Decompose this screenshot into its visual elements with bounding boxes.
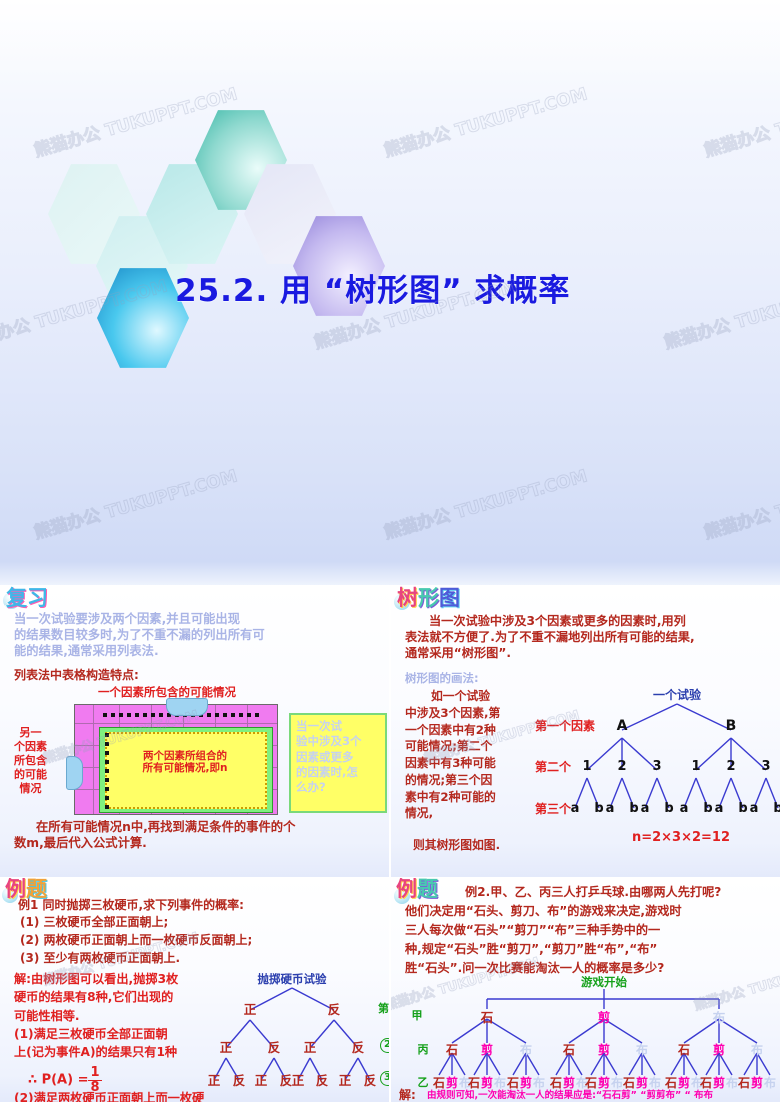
- example1-solution-l2: 硬币的结果有8种,它们出现的: [14, 988, 178, 1006]
- example2-body-l4: 种,规定“石头”胜“剪刀”,“剪刀”胜“布”,“布”: [405, 940, 721, 959]
- tree-body-l6: 的情况;第三个因: [405, 772, 500, 789]
- example1-item-3: (3) 至少有两枚硬币正面朝上.: [20, 951, 180, 965]
- example1-solution: 解:由树形图可以看出,抛掷3枚 硬币的结果有8种,它们出现的 可能性相等. (1…: [14, 970, 178, 1061]
- tree-node-l2-1: 1: [582, 759, 591, 774]
- example1-node-l3-8: 反: [364, 1070, 377, 1089]
- example2-node-l3-11: 剪: [563, 1074, 575, 1091]
- example1-node-root: 抛掷硬币试验: [258, 971, 327, 987]
- review-center-label: 两个因素所组合的 所有可能情况,即n: [115, 750, 255, 775]
- example2-body-l2: 他们决定用“石头、剪刀、布”的游戏来决定,游戏时: [405, 902, 721, 921]
- example1-cut-line: (2)满足两枚硬币正面朝上而一枚硬: [14, 1091, 204, 1102]
- example1-node-l3-6: 反: [316, 1070, 329, 1089]
- example2-node-l1-1: 石: [481, 1007, 494, 1026]
- left-label-l3: 所包含: [14, 754, 47, 768]
- tree-intro-l1: 当一次试验中涉及3个因素或更多的因素时,用列: [405, 614, 695, 630]
- table-left-tab: [66, 756, 83, 790]
- example2-node-l2-1: 石: [446, 1041, 458, 1058]
- example1-solution-l5: 上(记为事件A)的结果只有1种: [14, 1043, 178, 1061]
- tree-node-l3-2: b: [594, 801, 603, 816]
- side-label-prefix: 第: [378, 1002, 389, 1015]
- example2-node-l3-9: 布: [533, 1074, 545, 1091]
- tree-node-A: A: [617, 718, 628, 734]
- example1-node-l2-3: 正: [304, 1037, 317, 1056]
- review-footer: 在所有可能情况n中,再找到满足条件的事件的个 数m,最后代入公式计算.: [14, 820, 295, 852]
- tree-node-l2-3: 3: [652, 759, 661, 774]
- example1-node-l3-2: 反: [233, 1070, 246, 1089]
- example2-node-l3-25: 石: [738, 1074, 750, 1091]
- example2-body: 例2.甲、乙、丙三人打乒乓球.由哪两人先打呢? 他们决定用“石头、剪刀、布”的游…: [405, 883, 721, 978]
- circle-number-2: 2: [380, 1038, 389, 1053]
- left-label-l4: 的可能: [14, 768, 47, 782]
- left-label-l1: 另一: [14, 726, 47, 740]
- tree-row-label-3: 第三个: [535, 802, 571, 816]
- callout-l5: 么办?: [296, 780, 362, 795]
- tree-body-l4: 可能情况;第二个: [405, 738, 500, 755]
- ribbon-char: 形: [418, 588, 439, 609]
- tree-subheading: 树形图的画法:: [405, 672, 479, 686]
- example1-diagram: 抛掷硬币试验 正 反 正 反 正 反 正 反 正 反 正 反 正 反 第1枚 2…: [198, 970, 389, 1098]
- ribbon-char: 树: [397, 588, 418, 609]
- tree-formula: n=2×3×2=12: [632, 830, 730, 845]
- review-left-label: 另一 个因素 所包含 的可能 情况: [14, 726, 47, 796]
- table-gridline: [93, 705, 94, 814]
- slide-thumb-tree[interactable]: 树形图 当一次试验中涉及3个因素或更多的因素时,用列 表法就不方便了.为了不重不…: [391, 586, 780, 877]
- example2-node-l2-7: 石: [678, 1041, 690, 1058]
- example2-node-l3-22: 石: [700, 1074, 712, 1091]
- table-top-tab: [166, 698, 208, 716]
- example2-node-l3-13: 石: [585, 1074, 597, 1091]
- title-slide: 25.2. 用 “树形图” 求概率 熊猫办公 TUKUPPT.COM 熊猫办公 …: [0, 0, 780, 585]
- ribbon-char: 图: [439, 588, 460, 609]
- page-title: 25.2. 用 “树形图” 求概率: [175, 265, 570, 310]
- tree-node-l2-6: 3: [761, 759, 770, 774]
- tree-body-l7: 素中有2种可能的: [405, 789, 500, 806]
- tree-body-tail: 则其树形图如图.: [413, 839, 500, 853]
- example2-node-root: 游戏开始: [581, 974, 627, 990]
- example1-node-l3-1: 正: [208, 1070, 221, 1089]
- tree-body-l3: 一个因素中有2种: [405, 722, 500, 739]
- tree-node-l2-5: 2: [726, 759, 735, 774]
- callout-l4: 的因素时,怎: [296, 765, 362, 780]
- section-ribbon-tree: 树形图: [397, 588, 460, 609]
- ribbon-char: 习: [27, 588, 48, 609]
- example2-node-l3-27: 布: [764, 1074, 776, 1091]
- tree-intro-l3: 通常采用“树形图”.: [405, 646, 695, 662]
- example2-node-l2-2: 剪: [481, 1041, 493, 1058]
- tree-intro: 当一次试验中涉及3个因素或更多的因素时,用列 表法就不方便了.为了不重不漏地列出…: [405, 614, 695, 662]
- example1-side-label-3: 3: [380, 1070, 389, 1086]
- review-intro-l2: 的结果数目较多时,为了不重不漏的列出所有可: [14, 628, 265, 642]
- example2-node-l3-2: 剪: [446, 1074, 458, 1091]
- example1-solution-l3: 可能性相等.: [14, 1007, 178, 1025]
- example1-node-l2-2: 反: [268, 1037, 281, 1056]
- tree-node-l3-12: b: [773, 801, 780, 816]
- ribbon-char: 例: [5, 879, 26, 900]
- left-label-l2: 个因素: [14, 740, 47, 754]
- example1-node-l3-5: 正: [292, 1070, 305, 1089]
- review-intro-l3: 能的结果,通常采用列表法.: [14, 644, 159, 658]
- example2-player-label-1: 甲: [412, 1007, 423, 1023]
- tree-node-l3-11: a: [750, 801, 759, 816]
- example2-node-l1-3: 布: [713, 1007, 726, 1026]
- example2-body-l1: 例2.甲、乙、丙三人打乒乓球.由哪两人先打呢?: [405, 883, 721, 902]
- example1-node-l3-3: 正: [255, 1070, 268, 1089]
- review-intro: 当一次试验要涉及两个因素,并且可能出现 的结果数目较多时,为了不重不漏的列出所有…: [14, 612, 384, 660]
- example2-node-l3-4: 石: [468, 1074, 480, 1091]
- tree-node-l3-7: a: [680, 801, 689, 816]
- review-callout-box: 当一次试 验中涉及3个 因素或更多 的因素时,怎 么办?: [289, 713, 387, 813]
- example2-node-l3-18: 布: [649, 1074, 661, 1091]
- tree-node-l3-10: b: [738, 801, 747, 816]
- example2-solution-label: 解:: [399, 1088, 416, 1102]
- example2-node-l3-16: 石: [623, 1074, 635, 1091]
- tree-row-label-2: 第二个: [535, 760, 571, 774]
- example2-node-l2-8: 剪: [713, 1041, 725, 1058]
- tree-node-B: B: [726, 718, 737, 734]
- review-footer-l1: 在所有可能情况n中,再找到满足条件的事件的个: [14, 820, 295, 836]
- example2-node-l3-19: 石: [665, 1074, 677, 1091]
- tree-node-l3-6: b: [664, 801, 673, 816]
- slide-thumb-example1[interactable]: 例题 例1 同时抛掷三枚硬币,求下列事件的概率: (1) 三枚硬币全部正面朝上;…: [0, 878, 389, 1102]
- tree-node-l3-9: a: [715, 801, 724, 816]
- review-subheading: 列表法中表格构造特点:: [14, 668, 139, 682]
- example1-node-l2-4: 反: [352, 1037, 365, 1056]
- tree-body-l8: 情况,: [405, 805, 500, 822]
- fraction-numerator: 1: [88, 1066, 101, 1081]
- callout-l3: 因素或更多: [296, 750, 362, 765]
- example1-item-2: (2) 两枚硬币正面朝上而一枚硬币反面朝上;: [20, 933, 252, 947]
- tree-node-l3-3: a: [606, 801, 615, 816]
- example1-side-label-1: 第1枚: [378, 1000, 389, 1018]
- callout-l1: 当一次试: [296, 719, 362, 734]
- probability-prefix: ∴ P(A) =: [28, 1073, 88, 1088]
- slide-thumb-example2[interactable]: 例题 例2.甲、乙、丙三人打乒乓球.由哪两人先打呢? 他们决定用“石头、剪刀、布…: [391, 878, 780, 1102]
- example1-node-l1-2: 反: [328, 999, 341, 1018]
- slide-thumb-review[interactable]: 复习 当一次试验要涉及两个因素,并且可能出现 的结果数目较多时,为了不重不漏的列…: [0, 586, 389, 877]
- tree-body-l5: 因素中有3种可能: [405, 755, 500, 772]
- tree-intro-l2: 表法就不方便了.为了不重不漏地列出所有可能的结果,: [405, 630, 695, 646]
- example2-node-l3-24: 布: [726, 1074, 738, 1091]
- section-ribbon-example1: 例题: [5, 879, 47, 900]
- example2-diagram: 游戏开始 甲 丙 乙 石 剪 布 石 剪 布 石 剪 布 石 剪 布 石剪布石剪…: [399, 975, 777, 1095]
- example2-node-l3-15: 布: [611, 1074, 623, 1091]
- review-table-figure: 两个因素所组合的 所有可能情况,即n: [74, 704, 278, 815]
- example2-node-l3-5: 剪: [481, 1074, 493, 1091]
- example1-node-l2-1: 正: [220, 1037, 233, 1056]
- example2-node-l2-5: 剪: [598, 1041, 610, 1058]
- example2-node-l3-14: 剪: [598, 1074, 610, 1091]
- example2-body-l3: 三人每次做“石头”“剪刀”“布”三种手势中的一: [405, 921, 721, 940]
- review-footer-l2: 数m,最后代入公式计算.: [14, 836, 295, 852]
- tree-node-l2-4: 1: [691, 759, 700, 774]
- tree-node-l2-2: 2: [617, 759, 626, 774]
- tree-row-label-1: 第一个因素: [535, 719, 595, 733]
- example1-item-1: (1) 三枚硬币全部正面朝上;: [20, 915, 168, 929]
- example2-node-l3-1: 石: [433, 1074, 445, 1091]
- review-callout: 当一次试 验中涉及3个 因素或更多 的因素时,怎 么办?: [296, 719, 362, 795]
- tree-node-l3-1: a: [571, 801, 580, 816]
- example2-node-l3-8: 剪: [520, 1074, 532, 1091]
- example1-node-l3-4: 反: [280, 1070, 293, 1089]
- example1-side-label-2: 2: [380, 1037, 389, 1053]
- tree-node-l3-4: b: [629, 801, 638, 816]
- tree-body: 如一个试验 中涉及3个因素,第 一个因素中有2种 可能情况;第二个 因素中有3种…: [405, 688, 500, 822]
- example2-node-l3-10: 石: [550, 1074, 562, 1091]
- example2-node-l3-17: 剪: [636, 1074, 648, 1091]
- tree-node-l3-8: b: [703, 801, 712, 816]
- section-ribbon-review: 复习: [6, 588, 48, 609]
- example1-solution-l1: 解:由树形图可以看出,抛掷3枚: [14, 970, 178, 988]
- center-label-l2: 所有可能情况,即n: [115, 762, 255, 774]
- example2-node-l2-4: 石: [563, 1041, 575, 1058]
- example1-solution-l4: (1)满足三枚硬币全部正面朝: [14, 1025, 178, 1043]
- example2-solution-text: 由规则可知,一次能淘汰一人的结果应是:“石石剪” “剪剪布” “ 布布: [427, 1090, 713, 1101]
- example1-node-l1-1: 正: [244, 999, 257, 1018]
- slide-preview-page: 25.2. 用 “树形图” 求概率 熊猫办公 TUKUPPT.COM 熊猫办公 …: [0, 0, 780, 1102]
- ribbon-char: 复: [6, 588, 27, 609]
- tree-node-l3-5: a: [641, 801, 650, 816]
- ribbon-char: 题: [26, 879, 47, 900]
- example2-node-l3-26: 剪: [751, 1074, 763, 1091]
- center-label-l1: 两个因素所组合的: [115, 750, 255, 762]
- example2-node-l2-9: 布: [751, 1041, 763, 1058]
- example2-node-l2-3: 布: [520, 1041, 532, 1058]
- example1-node-l3-7: 正: [339, 1070, 352, 1089]
- circle-number-3: 3: [380, 1071, 389, 1086]
- example2-node-l2-6: 布: [636, 1041, 648, 1058]
- left-label-l5: 情况: [14, 782, 47, 796]
- review-intro-l1: 当一次试验要涉及两个因素,并且可能出现: [14, 612, 240, 626]
- tree-body-l2: 中涉及3个因素,第: [405, 705, 500, 722]
- callout-l2: 验中涉及3个: [296, 734, 362, 749]
- example1-lead: 例1 同时抛掷三枚硬币,求下列事件的概率:: [18, 898, 244, 912]
- tree-body-l1: 如一个试验: [405, 688, 500, 705]
- example2-node-l3-20: 剪: [678, 1074, 690, 1091]
- tree-node-root: 一个试验: [653, 686, 701, 703]
- example2-node-l3-7: 石: [507, 1074, 519, 1091]
- example2-node-l1-2: 剪: [598, 1007, 611, 1026]
- example2-player-label-2: 丙: [418, 1041, 429, 1057]
- example2-node-l3-23: 剪: [713, 1074, 725, 1091]
- example2-node-l3-6: 布: [494, 1074, 506, 1091]
